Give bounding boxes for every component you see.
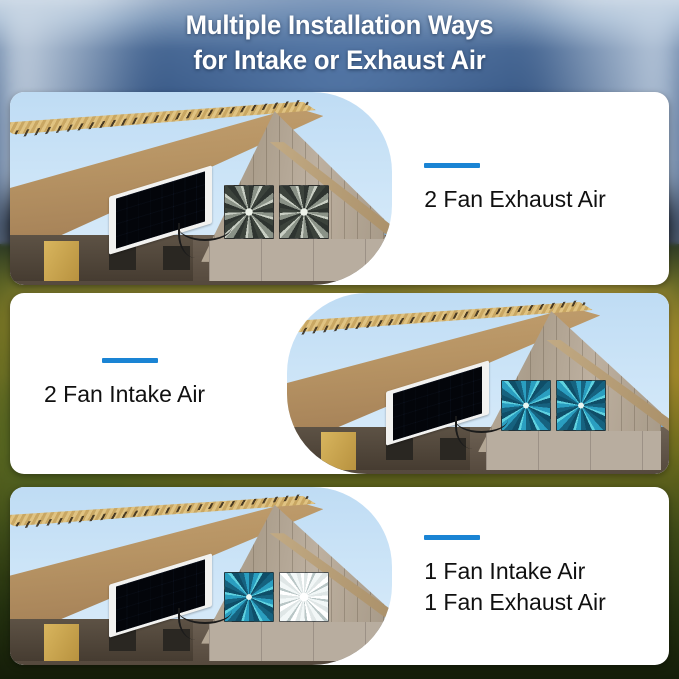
- installation-card: 1 Fan Intake Air 1 Fan Exhaust Air: [10, 487, 669, 665]
- stone-base: [486, 431, 662, 471]
- installation-photo: [10, 92, 392, 285]
- page-title-line-2: for Intake or Exhaust Air: [17, 43, 662, 78]
- installation-caption-block: 2 Fan Exhaust Air: [392, 92, 669, 285]
- barn-door: [44, 241, 78, 282]
- barn-scene: [10, 92, 392, 285]
- installation-card: 2 Fan Exhaust Air: [10, 92, 669, 285]
- barn-scene: [10, 487, 392, 665]
- installation-caption-block: 1 Fan Intake Air 1 Fan Exhaust Air: [392, 487, 669, 665]
- accent-dash: [102, 358, 158, 363]
- barn-door: [321, 432, 355, 470]
- intake-fan-icon: [501, 380, 551, 431]
- installation-caption-block: 2 Fan Intake Air: [10, 293, 287, 474]
- installation-caption: 1 Fan Exhaust Air: [424, 587, 606, 617]
- installation-caption: 2 Fan Intake Air: [44, 379, 205, 409]
- installation-caption: 2 Fan Exhaust Air: [424, 184, 606, 214]
- page-title: Multiple Installation Ways for Intake or…: [0, 8, 679, 77]
- installation-caption: 1 Fan Intake Air: [424, 556, 585, 586]
- installation-card: 2 Fan Intake Air: [10, 293, 669, 474]
- exhaust-fan-icon: [279, 572, 329, 622]
- barn-scene: [287, 293, 669, 474]
- page-title-line-1: Multiple Installation Ways: [17, 8, 662, 43]
- stone-base: [209, 622, 385, 661]
- barn-door: [44, 624, 78, 661]
- installation-photo: [287, 293, 669, 474]
- intake-fan-icon: [556, 380, 606, 431]
- stone-base: [209, 239, 385, 281]
- installation-photo: [10, 487, 392, 665]
- accent-dash: [424, 535, 480, 540]
- exhaust-fan-icon: [279, 185, 329, 239]
- accent-dash: [424, 163, 480, 168]
